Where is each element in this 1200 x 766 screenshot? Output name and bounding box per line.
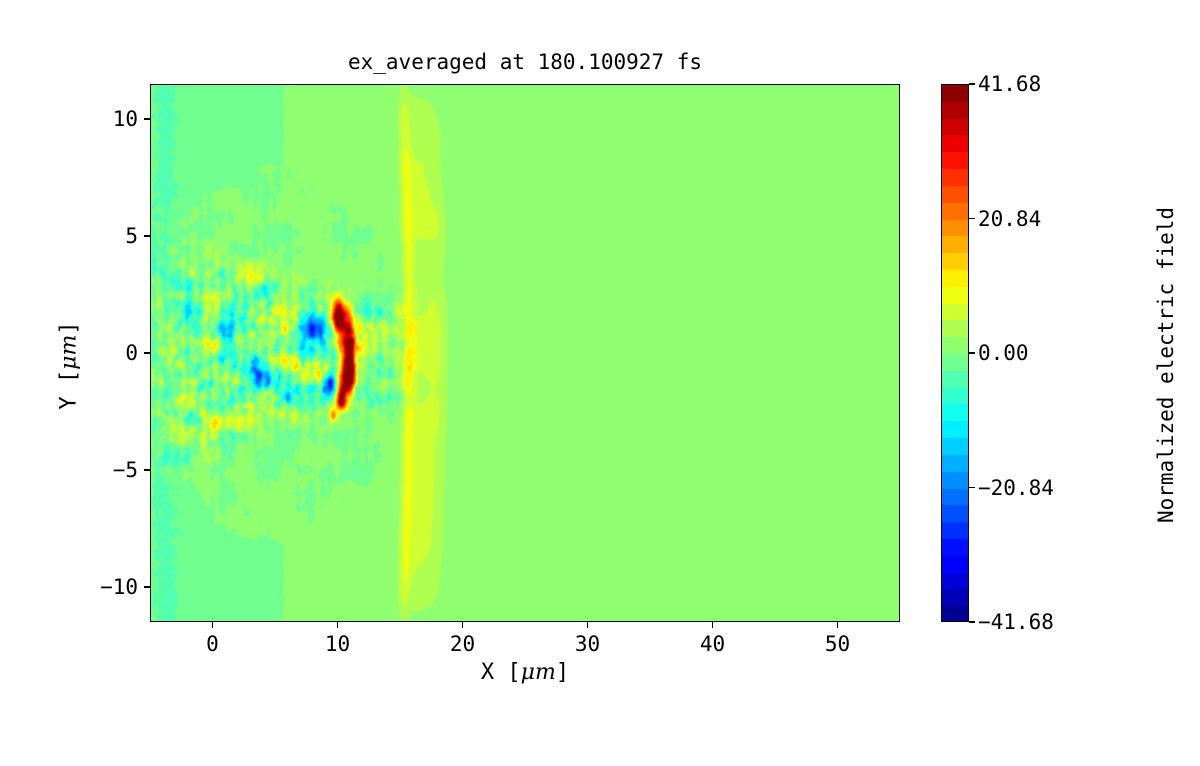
colorbar-gradient	[942, 85, 969, 622]
y-tick-mark	[144, 118, 150, 119]
figure-canvas: ex_averaged at 180.100927 fs X [μm] Y [μ…	[0, 0, 1200, 700]
colorbar-tick-label: −20.84	[978, 476, 1054, 500]
colorbar-tick-label: 41.68	[978, 72, 1041, 96]
colorbar-tick-label: −41.68	[978, 610, 1054, 634]
x-tick-mark	[712, 622, 713, 628]
colorbar-label: Normalized electric field	[1154, 0, 1178, 765]
y-tick-mark	[144, 586, 150, 587]
colorbar-tick-label: 0.00	[978, 341, 1029, 365]
heatmap-axes	[150, 84, 900, 622]
x-tick-mark	[337, 622, 338, 628]
colorbar-tick-mark	[969, 83, 975, 84]
colorbar-tick-label: 20.84	[978, 207, 1041, 231]
colorbar-tick-mark	[969, 218, 975, 219]
y-tick-label: 0	[0, 341, 138, 365]
x-tick-mark	[212, 622, 213, 628]
y-tick-label: −10	[0, 575, 138, 599]
colorbar-tick-mark	[969, 487, 975, 488]
x-tick-label: 50	[825, 632, 850, 656]
x-tick-label: 30	[575, 632, 600, 656]
y-tick-mark	[144, 469, 150, 470]
x-tick-label: 40	[700, 632, 725, 656]
y-tick-mark	[144, 235, 150, 236]
y-tick-label: −5	[0, 458, 138, 482]
colorbar	[941, 84, 969, 622]
x-tick-label: 10	[325, 632, 350, 656]
x-tick-mark	[462, 622, 463, 628]
colorbar-tick-mark	[969, 352, 975, 353]
x-tick-label: 20	[450, 632, 475, 656]
x-tick-label: 0	[206, 632, 219, 656]
x-axis-label: X [μm]	[150, 660, 900, 685]
colorbar-tick-mark	[969, 621, 975, 622]
y-tick-mark	[144, 352, 150, 353]
y-tick-label: 5	[0, 224, 138, 248]
page-title: ex_averaged at 180.100927 fs	[150, 50, 900, 74]
y-tick-label: 10	[0, 107, 138, 131]
x-tick-mark	[837, 622, 838, 628]
heatmap-image	[151, 85, 900, 622]
x-tick-mark	[587, 622, 588, 628]
